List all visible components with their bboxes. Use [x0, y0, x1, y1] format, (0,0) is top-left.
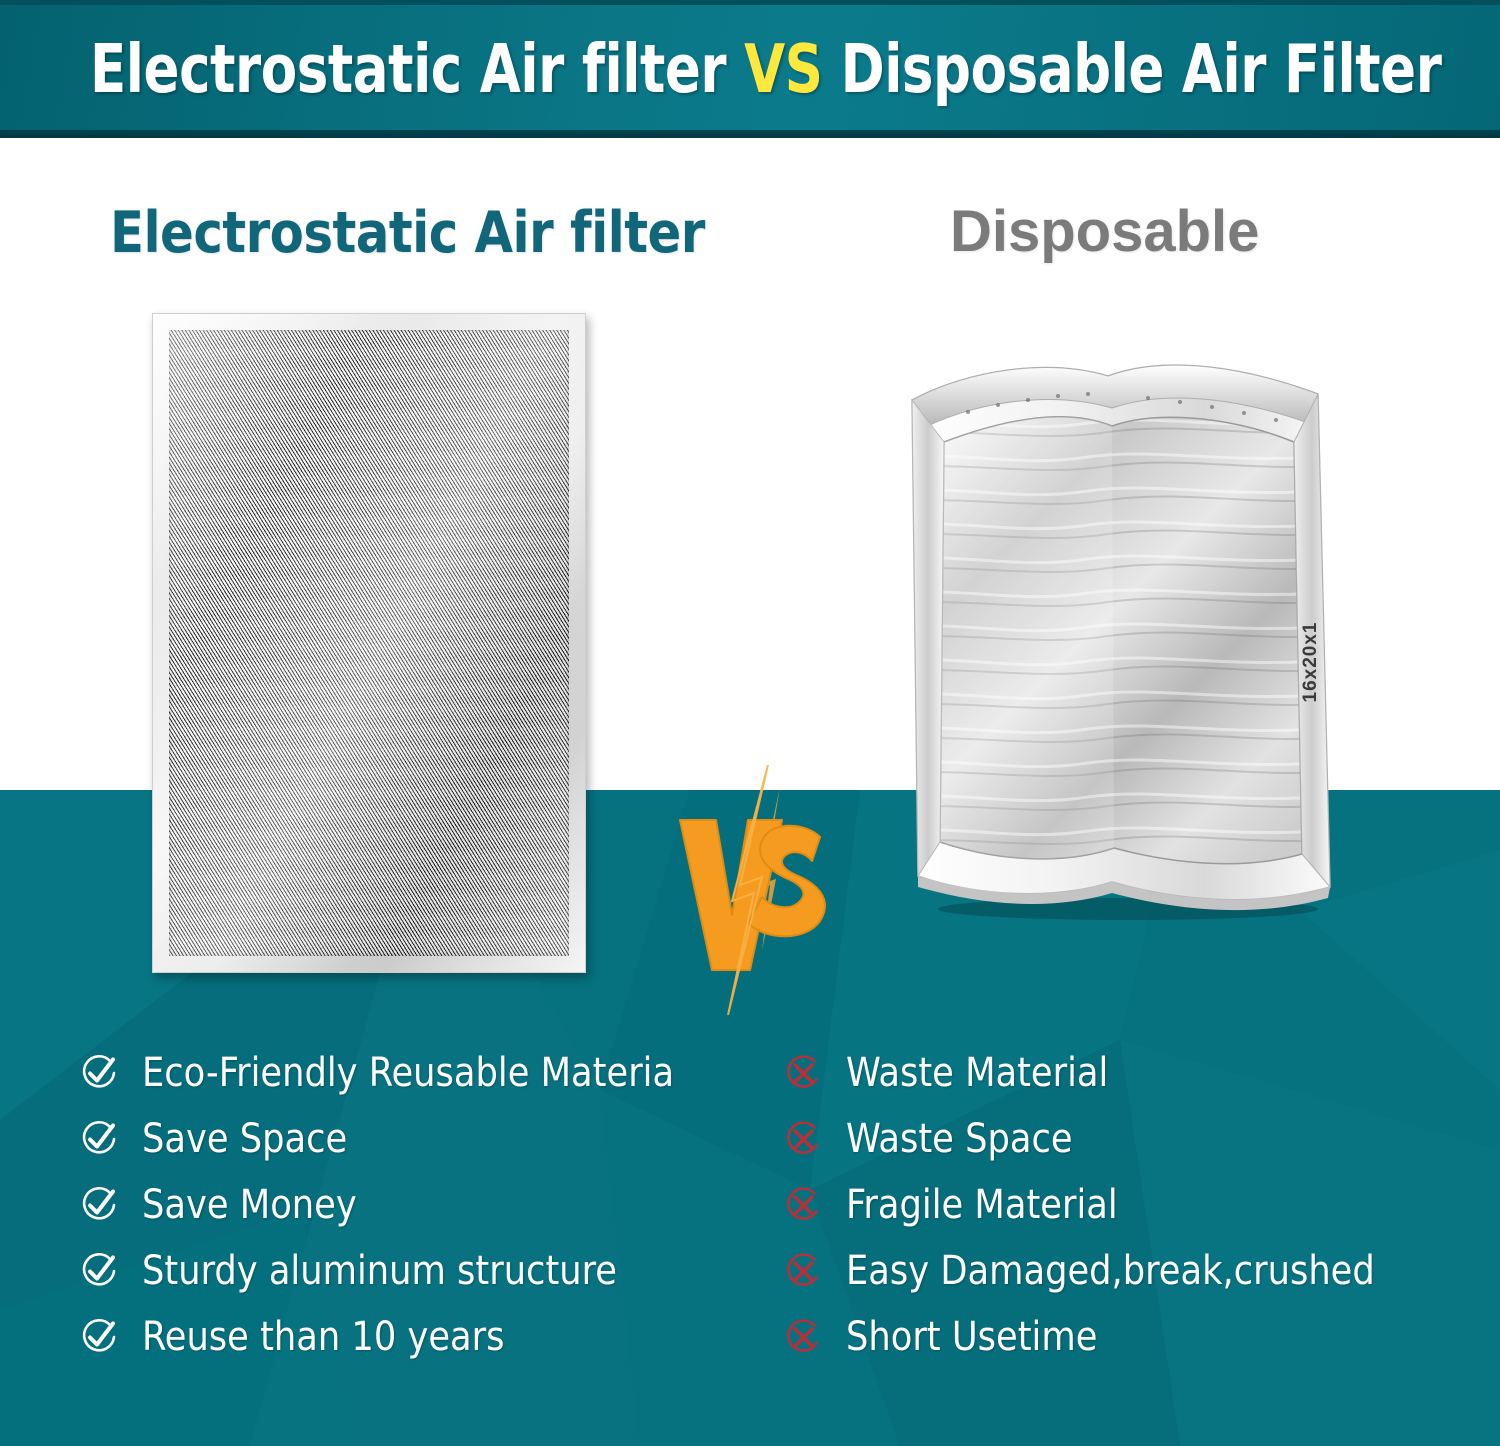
x-circle-icon — [782, 1316, 824, 1358]
title-part-one: Electrostatic Air filter — [90, 30, 744, 108]
check-circle-icon — [78, 1184, 120, 1226]
title-vs-word: VS — [744, 30, 822, 108]
vs-badge — [670, 765, 840, 1015]
disposable-filter-illustration: 16x20x1 — [898, 342, 1348, 922]
check-circle-icon — [78, 1316, 120, 1358]
list-item-label: Easy Damaged,break,crushed — [846, 1251, 1375, 1291]
list-item-label: Short Usetime — [846, 1317, 1097, 1357]
x-circle-icon — [782, 1052, 824, 1094]
list-item-label: Waste Material — [846, 1053, 1108, 1093]
list-item: Waste Material — [782, 1040, 1482, 1106]
list-item-label: Eco-Friendly Reusable Materia — [142, 1053, 674, 1093]
infographic-page: Electrostatic Air filter VS Disposable A… — [0, 0, 1500, 1446]
right-column-heading: Disposable — [950, 203, 1259, 261]
check-circle-icon — [78, 1118, 120, 1160]
left-column-heading: Electrostatic Air filter — [110, 205, 705, 262]
disposable-filter-image: 16x20x1 — [898, 342, 1348, 922]
page-title: Electrostatic Air filter VS Disposable A… — [90, 26, 1410, 112]
pros-list: Eco-Friendly Reusable Materia Save Space… — [78, 1040, 758, 1370]
title-part-two: Disposable Air Filter — [823, 30, 1442, 108]
electrostatic-mesh-area — [169, 330, 569, 956]
list-item: Easy Damaged,break,crushed — [782, 1238, 1482, 1304]
list-item-label: Save Space — [142, 1119, 347, 1159]
x-circle-icon — [782, 1184, 824, 1226]
list-item-label: Fragile Material — [846, 1185, 1118, 1225]
list-item: Eco-Friendly Reusable Materia — [78, 1040, 758, 1106]
check-circle-icon — [78, 1052, 120, 1094]
list-item-label: Sturdy aluminum structure — [142, 1251, 617, 1291]
list-item: Save Space — [78, 1106, 758, 1172]
x-circle-icon — [782, 1250, 824, 1292]
check-circle-icon — [78, 1250, 120, 1292]
list-item-label: Reuse than 10 years — [142, 1317, 505, 1357]
list-item: Reuse than 10 years — [78, 1304, 758, 1370]
cons-list: Waste Material Waste Space Fragile Mater… — [782, 1040, 1482, 1370]
list-item: Fragile Material — [782, 1172, 1482, 1238]
list-item-label: Waste Space — [846, 1119, 1073, 1159]
list-item: Short Usetime — [782, 1304, 1482, 1370]
list-item: Waste Space — [782, 1106, 1482, 1172]
header-bar: Electrostatic Air filter VS Disposable A… — [0, 0, 1500, 138]
vs-lightning-icon — [670, 765, 840, 1015]
list-item-label: Save Money — [142, 1185, 357, 1225]
list-item: Sturdy aluminum structure — [78, 1238, 758, 1304]
disposable-size-label: 16x20x1 — [1300, 622, 1321, 703]
x-circle-icon — [782, 1118, 824, 1160]
electrostatic-filter-image — [152, 313, 586, 973]
list-item: Save Money — [78, 1172, 758, 1238]
